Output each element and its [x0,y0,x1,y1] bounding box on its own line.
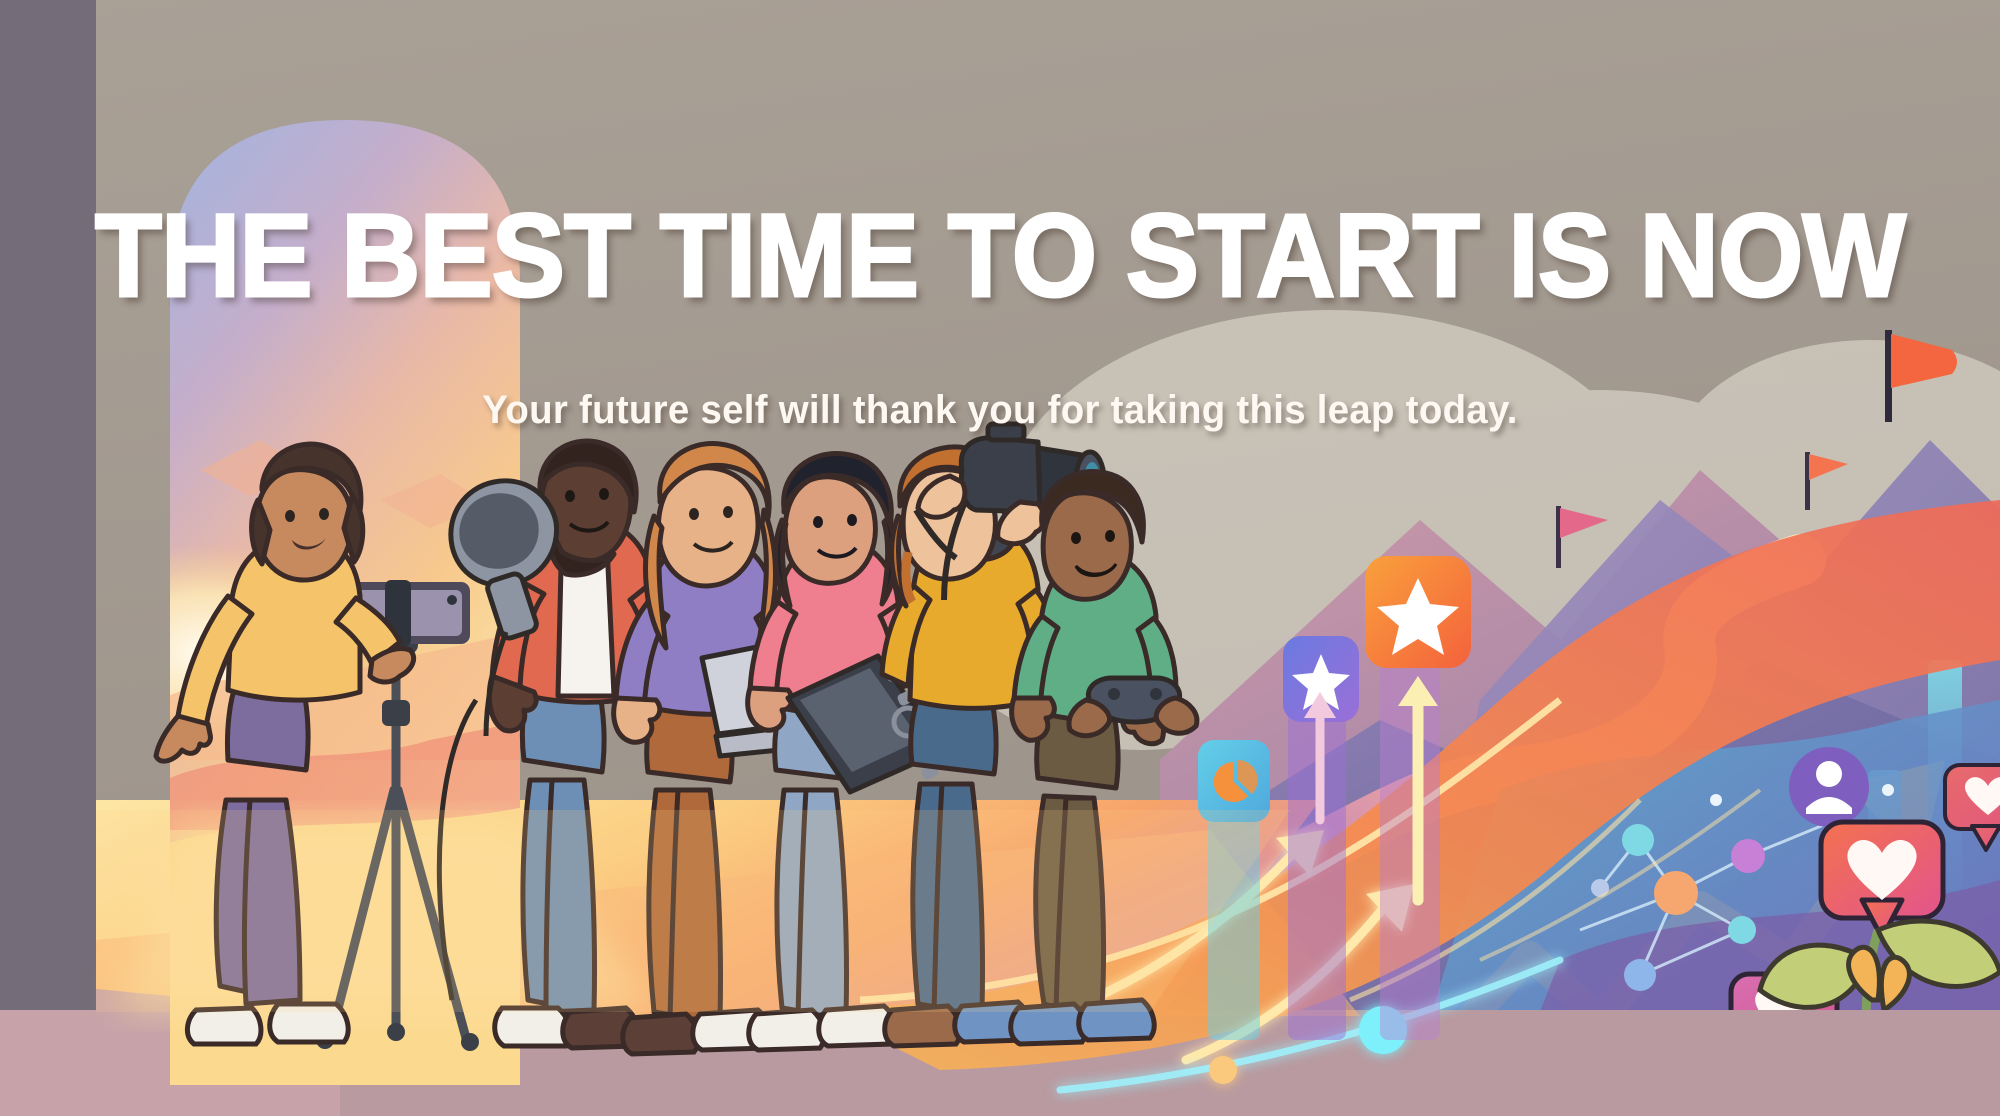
pie-chart-card [1198,740,1270,822]
page-title: THE BEST TIME TO START IS NOW [70,196,1930,316]
page-subtitle: Your future self will thank you for taki… [40,388,1960,433]
promo-banner: THE BEST TIME TO START IS NOW Your futur… [0,0,2000,1116]
star-card-large [1365,556,1471,668]
illustration-canvas [0,0,2000,1116]
user-node [1789,747,1869,827]
